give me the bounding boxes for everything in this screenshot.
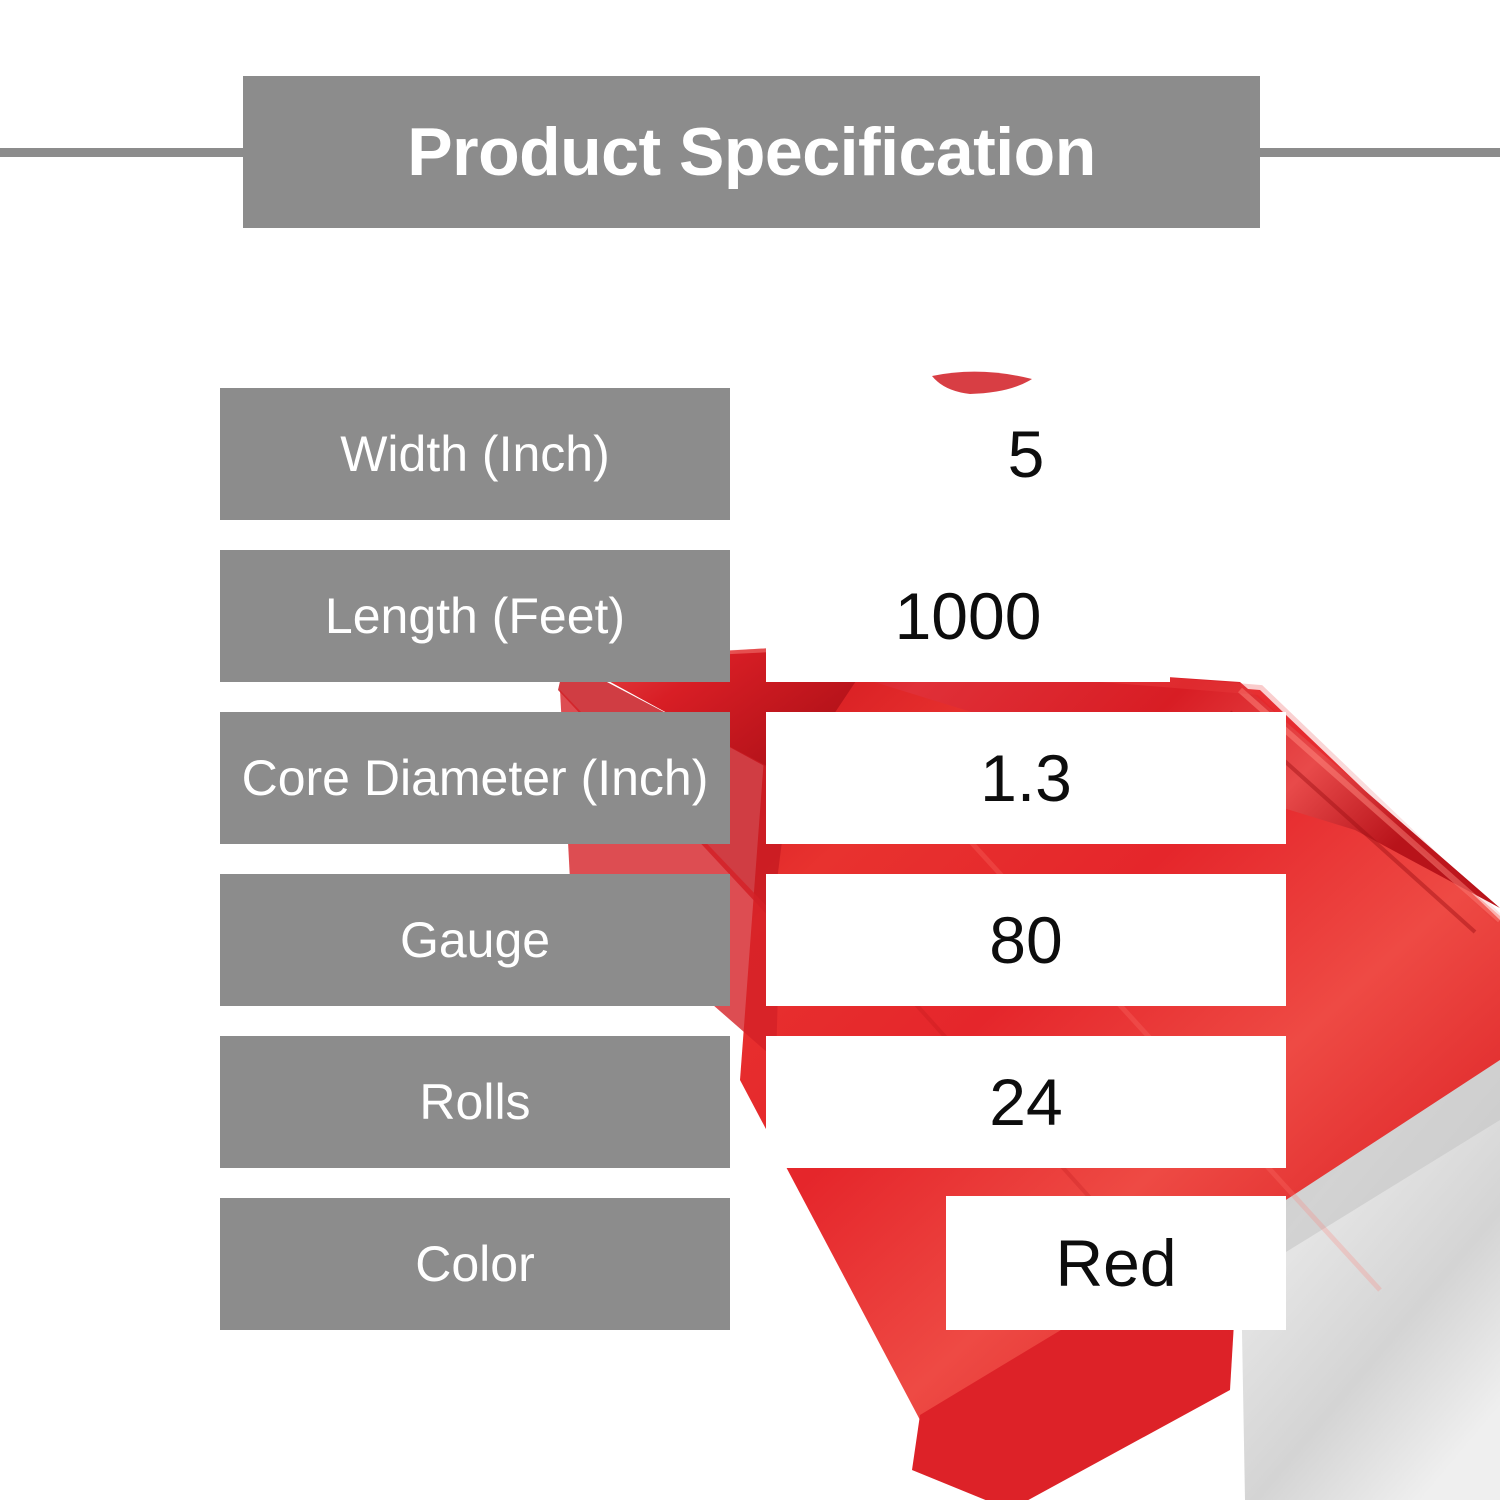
spec-value-length: 1000	[766, 550, 1170, 682]
spec-label-rolls: Rolls	[220, 1036, 730, 1168]
spec-label-length: Length (Feet)	[220, 550, 730, 682]
spec-label-color: Color	[220, 1198, 730, 1330]
spec-value-width: 5	[766, 388, 1286, 520]
spec-value-color: Red	[946, 1196, 1286, 1330]
spec-value-gauge: 80	[766, 874, 1286, 1006]
spec-value-rolls: 24	[766, 1036, 1286, 1168]
infographic-canvas: Product Specification	[0, 0, 1500, 1500]
spec-label-gauge: Gauge	[220, 874, 730, 1006]
spec-table: Width (Inch) 5 Length (Feet) 1000 Core D…	[0, 0, 1500, 1500]
spec-value-core-diameter: 1.3	[766, 712, 1286, 844]
spec-label-core-diameter: Core Diameter (Inch)	[220, 712, 730, 844]
spec-label-width: Width (Inch)	[220, 388, 730, 520]
